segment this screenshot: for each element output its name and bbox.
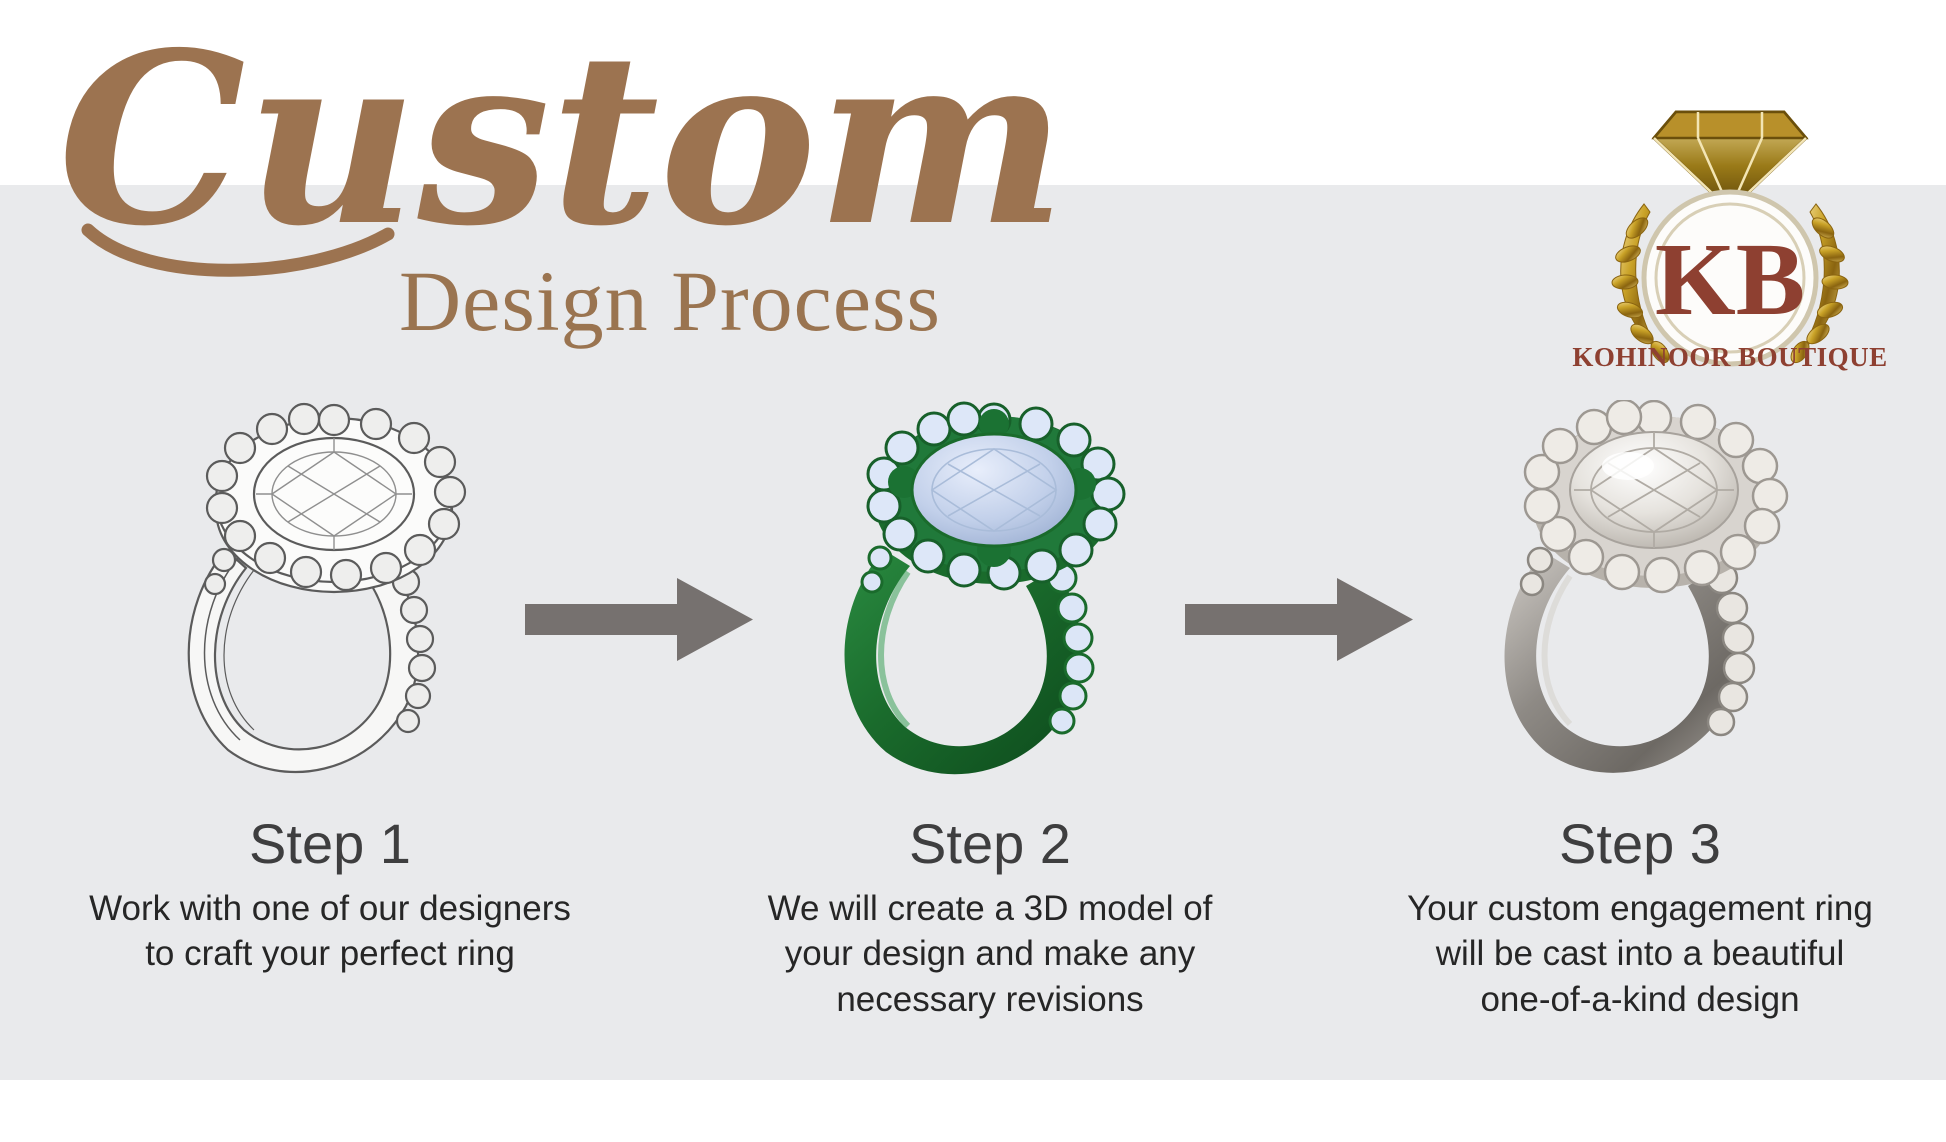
step-3-description: Your custom engagement ring will be cast… <box>1330 886 1946 1023</box>
custom-design-process-infographic: Custom Design Process <box>0 0 1946 1142</box>
step-1-caption: Step 1 Work with one of our designers to… <box>20 815 640 977</box>
ring-finished-white-gold-diamond-illustration <box>1440 400 1860 790</box>
step-3-caption: Step 3 Your custom engagement ring will … <box>1330 815 1946 1022</box>
ring-3d-model-green-illustration <box>780 400 1200 790</box>
step-2-caption: Step 2 We will create a 3D model of your… <box>680 815 1300 1022</box>
process-captions-row: Step 1 Work with one of our designers to… <box>0 815 1946 1065</box>
brand-logo: KB <box>1580 78 1880 378</box>
arrow-right-icon <box>525 572 755 667</box>
step-2-title: Step 2 <box>680 815 1300 874</box>
arrow-right-icon <box>1185 572 1415 667</box>
step-2-description: We will create a 3D model of your design… <box>680 886 1300 1023</box>
logo-monogram: KB <box>1655 222 1805 337</box>
step-3-title: Step 3 <box>1330 815 1946 874</box>
logo-wordmark: KOHINOOR BOUTIQUE <box>1540 342 1920 373</box>
step-1-title: Step 1 <box>20 815 640 874</box>
ring-sketch-cad-wireframe-illustration <box>120 400 540 790</box>
headline-design-process: Design Process <box>0 258 1340 344</box>
step-1-description: Work with one of our designers to craft … <box>20 886 640 977</box>
process-illustrations-row <box>0 400 1946 800</box>
